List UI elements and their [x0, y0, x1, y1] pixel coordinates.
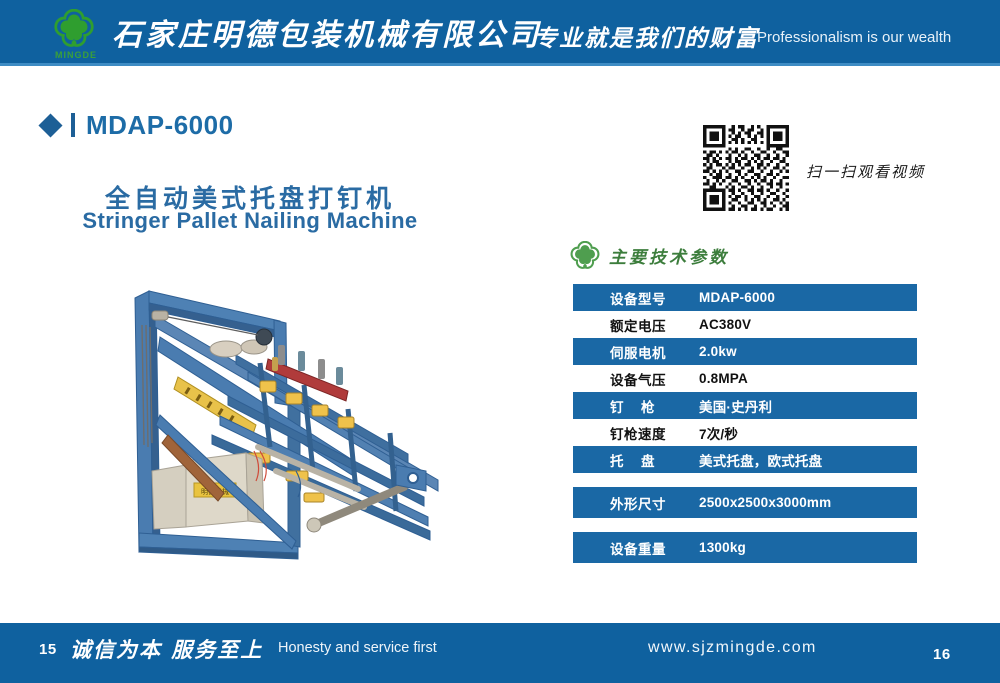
page-header: MINGDE 石家庄明德包装机械有限公司 专业就是我们的财富 Professio… — [0, 0, 1000, 66]
footer-website-url[interactable]: www.sjzmingde.com — [648, 639, 817, 657]
model-heading: MDAP-6000 — [42, 109, 234, 141]
spec-row: 钉 枪美国·史丹利 — [573, 392, 917, 419]
spec-table: 设备型号MDAP-6000额定电压AC380V伺服电机2.0kw设备气压0.8M… — [573, 284, 917, 563]
spec-row: 额定电压AC380V — [573, 311, 917, 338]
page-footer: 15 诚信为本 服务至上 Honesty and service first w… — [0, 623, 1000, 683]
spec-label: 托 盘 — [573, 450, 699, 470]
footer-motto-en: Honesty and service first — [278, 640, 437, 656]
spec-label: 伺服电机 — [573, 342, 699, 362]
plum-blossom-logo-icon — [54, 9, 94, 47]
spec-row: 设备气压0.8MPA — [573, 365, 917, 392]
spec-value: 美国·史丹利 — [699, 396, 772, 416]
vertical-bar-divider — [71, 113, 75, 137]
logo-wordmark: MINGDE — [50, 50, 102, 60]
spec-label: 设备重量 — [573, 538, 699, 558]
spec-label: 外形尺寸 — [573, 493, 699, 513]
company-name: 石家庄明德包装机械有限公司 — [112, 10, 541, 54]
product-title-en: Stringer Pallet Nailing Machine — [0, 208, 500, 234]
page-number-left: 15 — [39, 641, 57, 658]
spec-label: 钉枪速度 — [573, 423, 699, 443]
product-photo: 明德机械 — [108, 275, 458, 560]
company-logo: MINGDE — [50, 4, 102, 60]
footer-motto-cn: 诚信为本 服务至上 — [70, 634, 263, 664]
spec-row: 设备重量1300kg — [573, 532, 917, 563]
plum-blossom-icon — [570, 241, 600, 269]
qr-caption: 扫一扫观看视频 — [806, 161, 925, 182]
spec-row: 托 盘美式托盘，欧式托盘 — [573, 446, 917, 473]
spec-row: 设备型号MDAP-6000 — [573, 284, 917, 311]
spec-group-gap — [573, 473, 917, 487]
spec-value: 0.8MPA — [699, 371, 748, 386]
spec-label: 额定电压 — [573, 315, 699, 335]
spec-heading-label: 主要技术参数 — [609, 243, 729, 268]
header-brand: MINGDE 石家庄明德包装机械有限公司 — [50, 0, 541, 63]
header-slogan-en: Professionalism is our wealth — [757, 29, 951, 46]
spec-value: 2.0kw — [699, 344, 737, 359]
qr-code-icon[interactable] — [700, 122, 792, 214]
model-code: MDAP-6000 — [86, 110, 234, 141]
spec-row: 伺服电机2.0kw — [573, 338, 917, 365]
spec-section-heading: 主要技术参数 — [570, 240, 729, 270]
spec-value: MDAP-6000 — [699, 290, 775, 305]
spec-value: 7次/秒 — [699, 423, 738, 443]
spec-row: 钉枪速度7次/秒 — [573, 419, 917, 446]
spec-value: 2500x2500x3000mm — [699, 495, 831, 510]
spec-value: 美式托盘，欧式托盘 — [699, 450, 822, 470]
spec-value: AC380V — [699, 317, 751, 332]
spec-value: 1300kg — [699, 540, 746, 555]
spec-row: 外形尺寸2500x2500x3000mm — [573, 487, 917, 518]
spec-label: 设备气压 — [573, 369, 699, 389]
spec-label: 钉 枪 — [573, 396, 699, 416]
header-slogan-cn: 专业就是我们的财富 — [534, 19, 759, 53]
spec-label: 设备型号 — [573, 288, 699, 308]
spec-group-gap — [573, 518, 917, 532]
page-number-right: 16 — [933, 646, 951, 663]
diamond-bullet-icon — [38, 113, 62, 137]
